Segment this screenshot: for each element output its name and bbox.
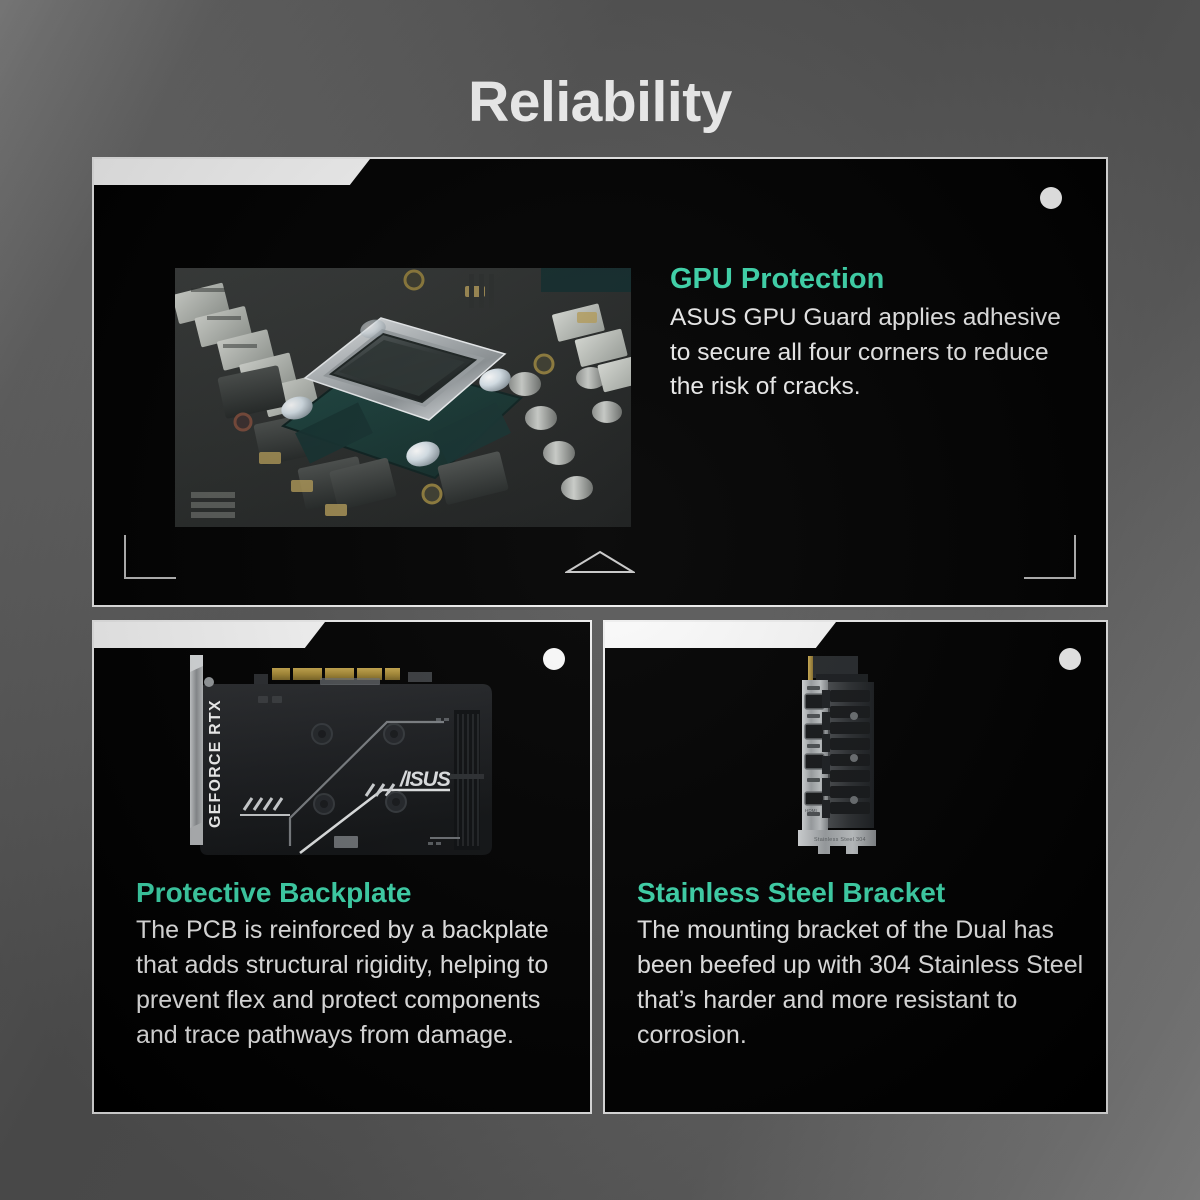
status-dot-indicator [1059,648,1081,670]
status-dot-indicator [543,648,565,670]
card-body: ASUS GPU Guard applies adhesive to secur… [670,301,1070,405]
card-heading: Protective Backplate [136,877,576,909]
svg-text:GEFORCE RTX: GEFORCE RTX [207,699,224,828]
card-gpu-protection: GPU Protection ASUS GPU Guard applies ad… [92,157,1108,607]
band-taper-shape [342,159,370,185]
card-text-block: Protective Backplate The PCB is reinforc… [136,877,576,1053]
backplate-image: GEFORCE RTX /ISUS [182,650,536,865]
svg-text:HDMI: HDMI [805,808,817,813]
card-heading: GPU Protection [670,263,1070,296]
card-body: The mounting bracket of the Dual has bee… [637,913,1097,1053]
corner-bracket-right-icon [1024,535,1076,579]
band-taper-shape [808,622,836,648]
card-text-block: GPU Protection ASUS GPU Guard applies ad… [670,263,1070,405]
center-triangle-icon [565,550,635,579]
page-title: Reliability [0,74,1200,131]
card-heading: Stainless Steel Bracket [637,877,1097,909]
card-text-block: Stainless Steel Bracket The mounting bra… [637,877,1097,1053]
card-top-band [94,622,299,648]
card-stainless-steel-bracket: Stainless Steel 304 HDMI Stainless Steel… [603,620,1108,1114]
gpu-die-image [173,266,633,529]
corner-bracket-left-icon [124,535,176,579]
card-top-band [605,622,810,648]
band-taper-shape [297,622,325,648]
svg-text:Stainless Steel 304: Stainless Steel 304 [814,837,866,843]
card-top-band [94,159,344,185]
status-dot-indicator [1040,187,1062,209]
card-protective-backplate: GEFORCE RTX /ISUS [92,620,592,1114]
card-body: The PCB is reinforced by a backplate tha… [136,913,576,1053]
io-bracket-image: Stainless Steel 304 HDMI [780,650,920,870]
svg-text:/ISUS: /ISUS [399,768,451,791]
